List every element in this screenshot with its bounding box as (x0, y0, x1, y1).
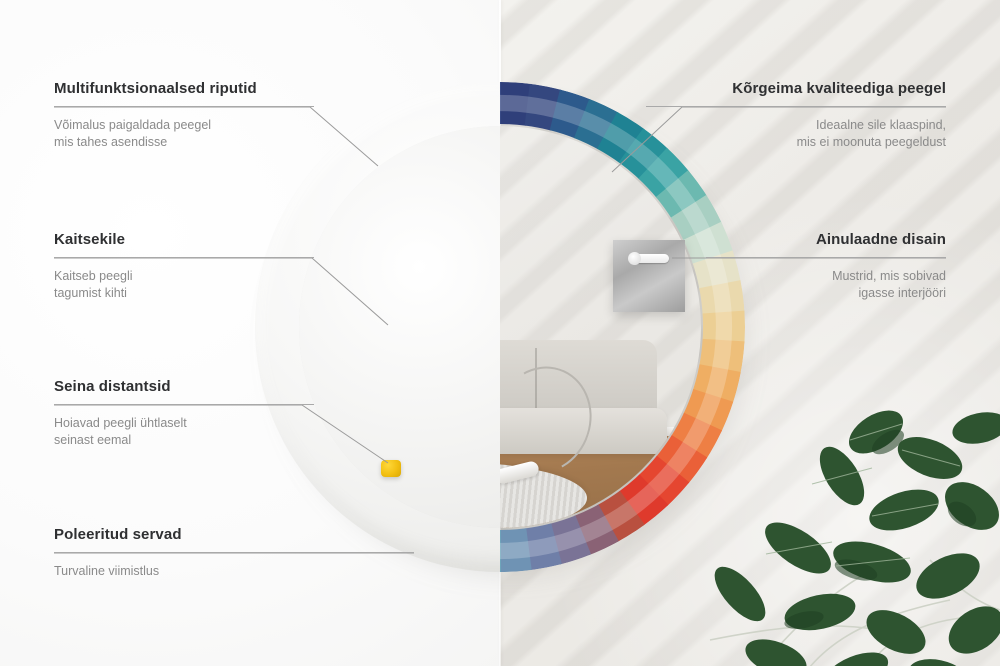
callout-rule (54, 106, 314, 107)
foreground-plant (680, 380, 1000, 666)
callout-rule (646, 106, 946, 107)
callout-seina-distantsid[interactable]: Seina distantsid Hoiavad peegli ühtlasel… (54, 378, 314, 449)
callout-rule (54, 404, 314, 405)
callout-body: Võimalus paigaldada peegel mis tahes ase… (54, 117, 314, 151)
callout-title: Seina distantsid (54, 378, 314, 395)
callout-body: Ideaalne sile klaaspind, mis ei moonuta … (646, 117, 946, 151)
infographic-canvas: Multifunktsionaalsed riputid Võimalus pa… (0, 0, 1000, 666)
reflected-room-scene (500, 126, 701, 528)
callout-title: Ainulaadne disain (706, 231, 946, 248)
callout-body: Turvaline viimistlus (54, 563, 414, 580)
callout-body: Hoiavad peegli ühtlaselt seinast eemal (54, 415, 314, 449)
wall-spacer-pad (381, 460, 401, 477)
wall-hanger-plate (613, 240, 685, 312)
callout-title: Kaitsekile (54, 231, 314, 248)
callout-korgeima-kvaliteediga-peegel[interactable]: Kõrgeima kvaliteediga peegel Ideaalne si… (646, 80, 946, 151)
callout-multifunktsionaalsed-riputid[interactable]: Multifunktsionaalsed riputid Võimalus pa… (54, 80, 314, 151)
callout-body: Kaitseb peegli tagumist kihti (54, 268, 314, 302)
callout-kaitsekile[interactable]: Kaitsekile Kaitseb peegli tagumist kihti (54, 231, 314, 302)
callout-title: Multifunktsionaalsed riputid (54, 80, 314, 97)
callout-body: Mustrid, mis sobivad igasse interjööri (706, 268, 946, 302)
callout-ainulaadne-disain[interactable]: Ainulaadne disain Mustrid, mis sobivad i… (706, 231, 946, 302)
callout-title: Poleeritud servad (54, 526, 414, 543)
mirror-glass (299, 126, 701, 528)
mirror-glass-reflection-half (500, 126, 701, 528)
callout-poleeritud-servad[interactable]: Poleeritud servad Turvaline viimistlus (54, 526, 414, 580)
callout-title: Kõrgeima kvaliteediga peegel (646, 80, 946, 97)
hanger-keyhole-opening (628, 252, 641, 265)
callout-rule (54, 552, 414, 553)
mirror-product (255, 82, 745, 572)
callout-rule (706, 257, 946, 258)
callout-rule (54, 257, 314, 258)
